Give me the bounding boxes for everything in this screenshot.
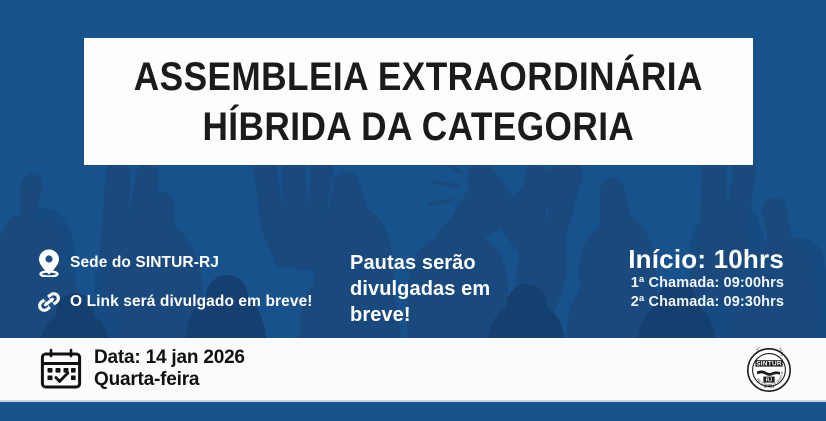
footer-strip [0, 402, 826, 421]
agenda-column: Pautas serão divulgadas em breve! [350, 250, 540, 328]
venue-row-link: O Link será divulgado em breve! [36, 287, 336, 317]
svg-text:SINTUR: SINTUR [756, 361, 782, 368]
calendar-check-icon [40, 348, 82, 390]
bottom-divider [0, 400, 826, 402]
date-block: Data: 14 jan 2026 Quarta-feira [40, 347, 245, 391]
schedule-start-time: Início: 10hrs [628, 244, 784, 274]
title-plate: ASSEMBLEIA EXTRAORDINÁRIA HÍBRIDA DA CAT… [84, 38, 753, 165]
agenda-line-3: breve! [350, 302, 540, 328]
schedule-first-call: 1ª Chamada: 09:00hrs [628, 274, 784, 293]
map-pin-icon [36, 248, 62, 278]
sintur-rj-seal-icon: SINDICATO DOS TRABALHADORES EM TURISMO E… [746, 347, 792, 393]
poster-canvas: ASSEMBLEIA EXTRAORDINÁRIA HÍBRIDA DA CAT… [0, 0, 826, 421]
venue-info-column: Sede do SINTUR-RJ O Link será divulgado … [36, 248, 336, 326]
venue-row-location: Sede do SINTUR-RJ [36, 248, 336, 278]
venue-location-label: Sede do SINTUR-RJ [70, 254, 219, 272]
agenda-line-1: Pautas serão [350, 250, 540, 276]
agenda-line-2: divulgadas em [350, 276, 540, 302]
date-line-1: Data: 14 jan 2026 [94, 347, 245, 369]
svg-text:RJ: RJ [766, 378, 773, 384]
date-lines: Data: 14 jan 2026 Quarta-feira [94, 347, 245, 391]
schedule-second-call: 2ª Chamada: 09:30hrs [628, 293, 784, 312]
title-line-1: ASSEMBLEIA EXTRAORDINÁRIA [134, 52, 703, 102]
venue-link-label: O Link será divulgado em breve! [70, 293, 313, 311]
chain-link-icon [36, 287, 62, 317]
date-bar: Data: 14 jan 2026 Quarta-feira [0, 338, 826, 400]
schedule-column: Início: 10hrs 1ª Chamada: 09:00hrs 2ª Ch… [628, 244, 784, 312]
svg-text:UNIEJ: UNIEJ [764, 384, 775, 388]
title-line-2: HÍBRIDA DA CATEGORIA [203, 102, 635, 152]
date-line-2: Quarta-feira [94, 369, 245, 391]
